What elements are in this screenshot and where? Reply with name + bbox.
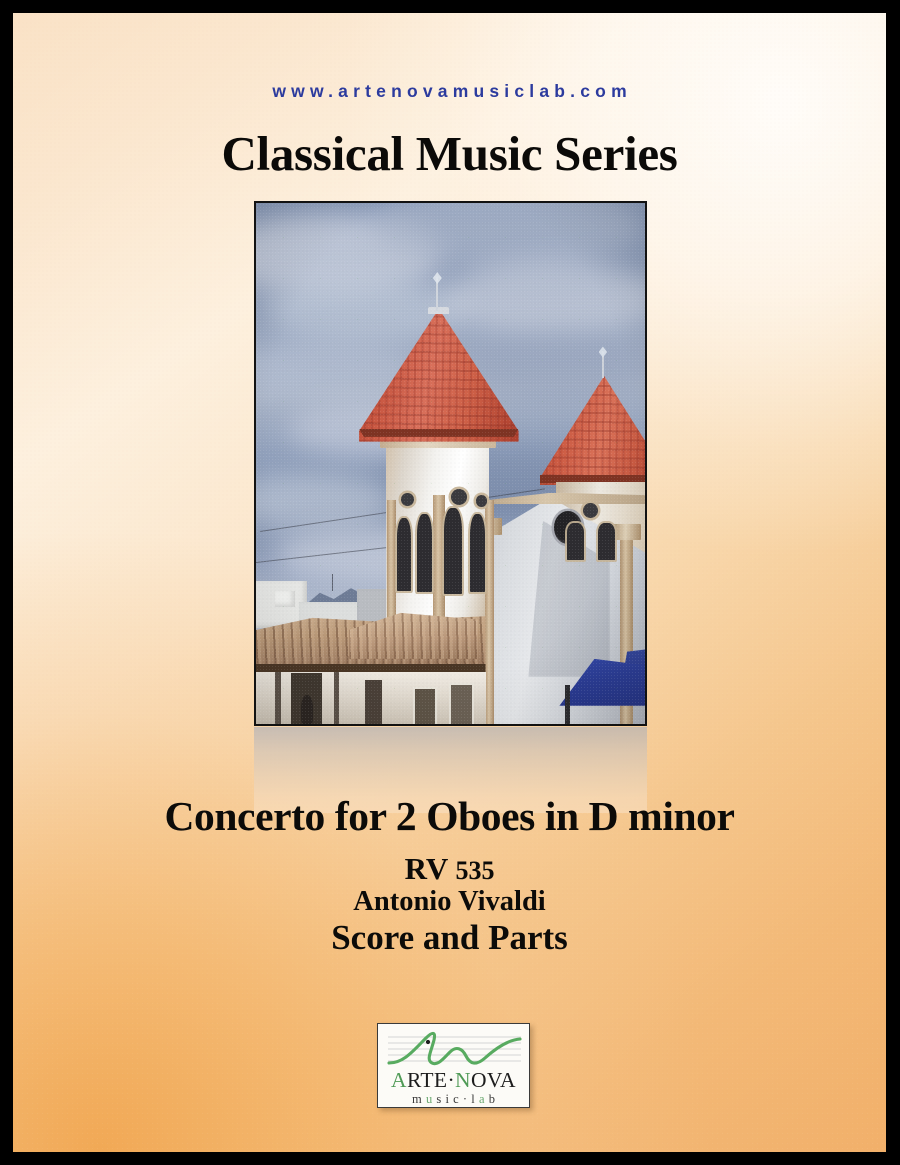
publisher-logo[interactable]: ARTE·NOVA music·lab [377,1023,530,1108]
cover-photo [254,201,647,726]
logo-subtitle-letter: l [471,1092,479,1106]
arched-opening [567,523,583,559]
finial-base [428,307,449,314]
logo-subtitle: music·lab [378,1092,529,1107]
series-title: Classical Music Series [13,125,886,182]
logo-subtitle-letter: a [479,1092,489,1106]
veranda-post [334,672,339,724]
roof-eave [359,429,518,437]
arched-opening [444,508,462,594]
logo-wordmark: ARTE·NOVA [378,1068,529,1093]
logo-letter-n: N [455,1068,471,1092]
pedestrian [301,695,313,724]
sheet-music-cover-page: www.artenovamusiclab.com Classical Music… [0,0,900,1165]
window [451,685,472,724]
logo-letter-a: A [391,1068,407,1092]
oculus-window [451,489,467,505]
catalog-prefix: RV [405,851,448,886]
logo-subtitle-letter: m [412,1092,426,1106]
bell-tower-roof-main [359,309,518,442]
logo-subtitle-letter: c [453,1092,463,1106]
bell-tower-roof-secondary [540,376,647,485]
background-building [275,591,294,607]
capital [613,524,641,540]
cross-finial [602,351,604,377]
oculus-window [476,495,487,506]
antenna [332,574,333,591]
edition-type: Score and Parts [13,918,886,958]
logo-subtitle-letter: u [426,1092,436,1106]
logo-subtitle-letter: i [445,1092,453,1106]
logo-separator-dot: · [447,1068,455,1092]
arched-opening [417,514,432,592]
work-title: Concerto for 2 Oboes in D minor [13,792,886,840]
logo-text-rte: RTE [407,1068,448,1092]
arched-opening [598,523,614,559]
catalog-number: RV 535 [13,851,886,887]
composer-name: Antonio Vivaldi [13,886,886,918]
logo-subtitle-letter: b [489,1092,499,1106]
doorway [365,680,383,724]
cross-finial [436,277,438,311]
veranda-post [275,672,280,724]
logo-text-ova: OVA [471,1068,516,1092]
website-url[interactable]: www.artenovamusiclab.com [13,81,886,102]
pilaster [485,500,494,724]
canopy-pole [565,685,569,724]
catalog-value: 535 [455,856,494,885]
page-surface: www.artenovamusiclab.com Classical Music… [13,13,886,1152]
arched-opening [470,514,486,592]
window [415,689,434,724]
oculus-window [401,493,414,506]
photo-scene [256,203,645,724]
arched-opening [397,518,411,591]
music-staff-wave-icon [386,1030,523,1070]
